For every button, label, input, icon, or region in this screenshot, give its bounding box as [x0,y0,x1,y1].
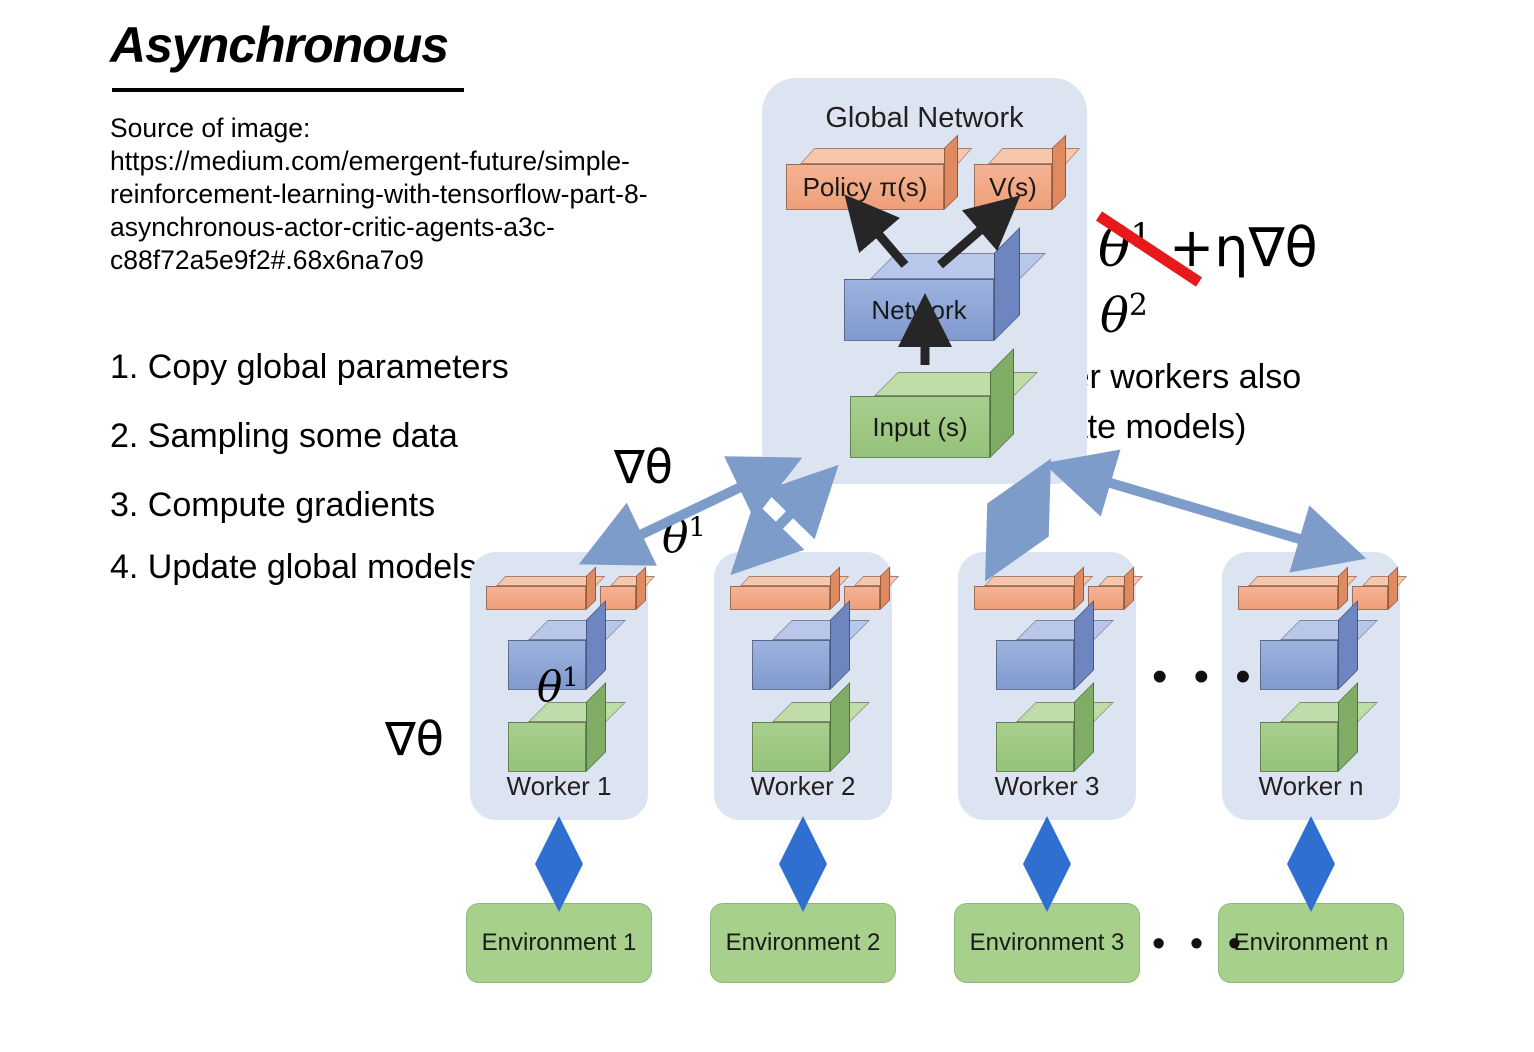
page-title: Asynchronous [110,16,448,74]
environment-box-3[interactable]: Environment 3 [954,903,1140,983]
arrow-global-worker-n [1080,474,1330,548]
worker-network-box[interactable] [996,620,1094,690]
nabla-theta-glyph: ∇θ [614,440,673,494]
theta1-base: θ [537,662,562,711]
environment-label: Environment 3 [970,929,1125,957]
worker-network-box[interactable] [752,620,850,690]
worker-value-bar[interactable] [600,576,646,610]
worker-ellipsis: • • • [1152,655,1258,699]
equation-theta-base: θ [1098,216,1131,279]
list-item: 1. Copy global parameters [110,333,580,402]
nabla-theta-glyph: ∇θ [385,712,444,766]
environment-ellipsis: • • • [1152,925,1248,963]
theta1-superscript: 1 [689,512,706,543]
arrow-global-worker-3 [1003,492,1033,548]
theta2-label: θ2 [1100,288,1148,344]
environment-box-1[interactable]: Environment 1 [466,903,652,983]
environment-box-2[interactable]: Environment 2 [710,903,896,983]
theta1-base: θ [662,512,689,563]
source-attribution: Source of image: https://medium.com/emer… [110,112,740,277]
worker-panel-2[interactable]: Worker 2 [714,552,892,820]
value-box-label: V(s) [989,172,1037,203]
worker-label: Worker 2 [714,771,892,802]
value-box[interactable]: V(s) [974,148,1066,210]
environment-label: Environment n [1234,929,1389,957]
worker-label: Worker n [1222,771,1400,802]
worker-value-bar[interactable] [844,576,890,610]
global-network-title: Global Network [762,102,1087,135]
worker-label: Worker 3 [958,771,1136,802]
equation-theta-superscript: 1 [1131,216,1152,255]
worker-network-box[interactable] [1260,620,1358,690]
worker-panel-3[interactable]: Worker 3 [958,552,1136,820]
gradient-label-top: ∇θ [614,440,673,494]
policy-box-label: Policy π(s) [803,172,928,203]
gradient-label-left: ∇θ [385,712,444,766]
worker-policy-bar[interactable] [1238,576,1348,610]
list-item: 2. Sampling some data [110,402,580,471]
theta2-superscript: 2 [1129,288,1148,323]
input-box[interactable]: Input (s) [850,372,1014,458]
worker-input-box[interactable] [1260,702,1358,772]
network-box[interactable]: Network [844,253,1020,341]
theta2-base: θ [1100,288,1129,344]
worker-environment-arrows [559,840,1311,888]
source-label: Source of image: [110,112,740,145]
worker-policy-bar[interactable] [730,576,840,610]
arrow-global-worker-2 [757,492,812,548]
source-url: https://medium.com/emergent-future/simpl… [110,145,740,277]
global-network-panel[interactable]: Global Network Policy π(s) V(s) Network … [762,78,1087,484]
worker-value-bar[interactable] [1088,576,1134,610]
update-equation: θ1 +η∇θ [1098,216,1318,279]
input-box-label: Input (s) [872,412,967,443]
worker-policy-bar[interactable] [486,576,596,610]
environment-label: Environment 2 [726,929,881,957]
theta1-label-top: θ1 [662,512,706,563]
theta1-superscript: 1 [562,663,579,693]
worker-input-box[interactable] [508,702,606,772]
equation-remainder: +η∇θ [1152,216,1318,279]
network-box-label: Network [871,295,966,326]
title-underline [112,88,464,92]
worker-input-box[interactable] [752,702,850,772]
global-worker-arrows [613,474,1330,548]
worker-label: Worker 1 [470,771,648,802]
environment-label: Environment 1 [482,929,637,957]
theta1-label-worker1: θ1 [537,662,579,711]
worker-input-box[interactable] [996,702,1094,772]
worker-value-bar[interactable] [1352,576,1398,610]
policy-box[interactable]: Policy π(s) [786,148,958,210]
worker-policy-bar[interactable] [974,576,1084,610]
list-item: 3. Compute gradients [110,471,580,540]
